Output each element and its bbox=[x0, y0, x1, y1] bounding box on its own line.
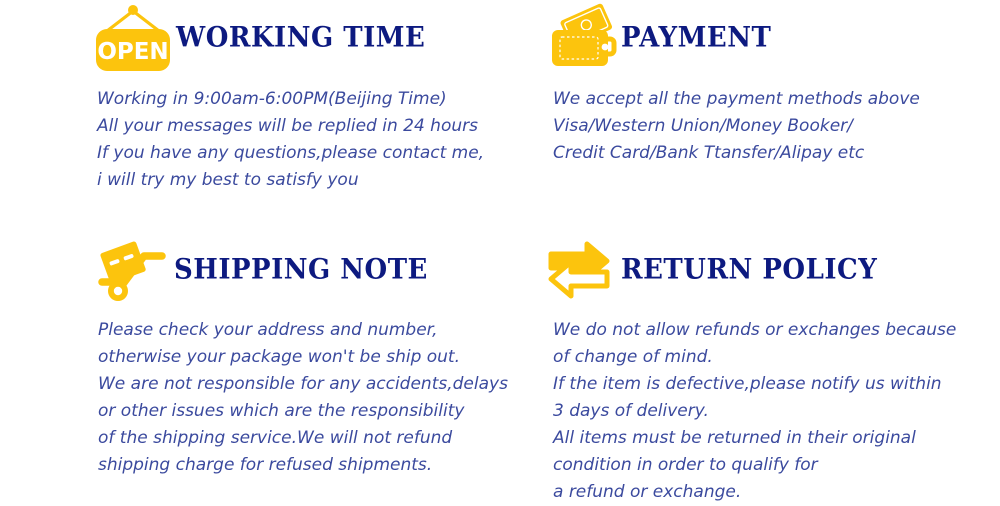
open-sign-label: OPEN bbox=[97, 39, 168, 65]
section-header-payment: PAYMENT bbox=[545, 0, 995, 76]
section-body-payment: We accept all the payment methods above … bbox=[553, 86, 995, 167]
section-payment: PAYMENT We accept all the payment method… bbox=[545, 0, 995, 167]
section-shipping-note: SHIPPING NOTE Please check your address … bbox=[90, 232, 530, 479]
section-header-working-time: OPEN WORKING TIME bbox=[90, 0, 530, 76]
hand-truck-icon bbox=[90, 232, 174, 308]
info-policy-banner: OPEN WORKING TIME Working in 9:00am-6:00… bbox=[0, 0, 1000, 500]
wallet-money-icon bbox=[545, 0, 621, 76]
section-header-return-policy: RETURN POLICY bbox=[545, 232, 1000, 308]
section-body-return-policy: We do not allow refunds or exchanges bec… bbox=[553, 317, 1000, 506]
section-title-return-policy: RETURN POLICY bbox=[621, 256, 877, 284]
open-sign-icon: OPEN bbox=[90, 0, 176, 76]
section-title-shipping-note: SHIPPING NOTE bbox=[174, 256, 428, 284]
section-body-working-time: Working in 9:00am-6:00PM(Beijing Time) A… bbox=[97, 86, 530, 194]
section-title-working-time: WORKING TIME bbox=[176, 24, 425, 52]
section-working-time: OPEN WORKING TIME Working in 9:00am-6:00… bbox=[90, 0, 530, 194]
section-title-payment: PAYMENT bbox=[621, 24, 771, 52]
return-arrows-icon bbox=[545, 232, 621, 308]
section-body-shipping-note: Please check your address and number, ot… bbox=[98, 317, 530, 479]
section-header-shipping-note: SHIPPING NOTE bbox=[90, 232, 530, 308]
section-return-policy: RETURN POLICY We do not allow refunds or… bbox=[545, 232, 1000, 506]
